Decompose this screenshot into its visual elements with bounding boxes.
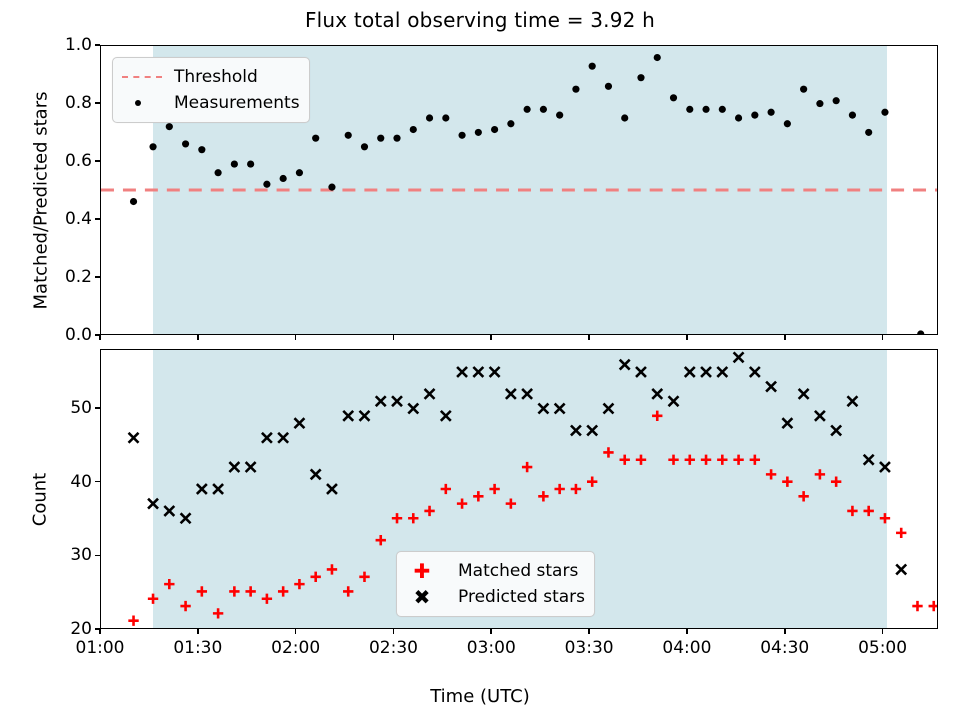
x-tick-mark (588, 335, 590, 340)
data-point (442, 114, 449, 121)
y-tick-mark (95, 555, 100, 557)
x-tick-mark (197, 629, 199, 634)
data-point (912, 601, 922, 611)
data-point (489, 484, 499, 494)
x-tick-label: 03:30 (565, 638, 614, 658)
measurement-dot-icon (120, 93, 164, 113)
x-tick-mark (490, 629, 492, 634)
data-point (278, 586, 288, 596)
data-point (554, 484, 564, 494)
x-tick-label: 01:30 (173, 638, 222, 658)
data-point (524, 106, 531, 113)
data-point (669, 396, 679, 406)
data-point (733, 455, 743, 465)
data-point (128, 616, 138, 626)
x-tick-mark (490, 335, 492, 340)
data-point (917, 330, 924, 334)
data-point (799, 389, 809, 399)
data-point (231, 161, 238, 168)
data-point (424, 506, 434, 516)
data-point (130, 198, 137, 205)
data-point (311, 572, 321, 582)
data-point (296, 169, 303, 176)
y-tick-label: 30 (38, 545, 92, 565)
data-point (620, 360, 630, 370)
legend-entry-matched-stars[interactable]: ✚ Matched stars (404, 558, 585, 584)
data-point (328, 184, 335, 191)
data-point (327, 564, 337, 574)
y-tick-mark (95, 481, 100, 483)
data-point (294, 579, 304, 589)
data-point (686, 106, 693, 113)
data-point (361, 143, 368, 150)
data-point (392, 513, 402, 523)
x-tick-mark (295, 335, 297, 340)
data-point (506, 389, 516, 399)
data-point (555, 404, 565, 414)
data-point (148, 499, 158, 509)
data-point (166, 123, 173, 130)
y-tick-label: 50 (38, 398, 92, 418)
data-point (685, 455, 695, 465)
x-tick-label: 05:00 (858, 638, 907, 658)
legend-label-measurements: Measurements (174, 95, 300, 112)
figure-title: Flux total observing time = 3.92 h (0, 8, 960, 32)
data-point (751, 112, 758, 119)
x-tick-mark (393, 629, 395, 634)
data-point (408, 404, 418, 414)
data-point (377, 135, 384, 142)
data-point (782, 418, 792, 428)
data-point (587, 426, 597, 436)
data-point (522, 389, 532, 399)
data-point (490, 367, 500, 377)
data-point (621, 114, 628, 121)
legend-label-threshold: Threshold (174, 69, 258, 86)
data-point (571, 484, 581, 494)
y-tick-label: 0.4 (38, 209, 92, 229)
y-tick-label: 0.0 (38, 325, 92, 345)
y-tick-label: 20 (38, 619, 92, 639)
figure-canvas: Flux total observing time = 3.92 h Thres… (0, 0, 960, 720)
legend-entry-predicted-stars[interactable]: ✖ Predicted stars (404, 584, 585, 610)
data-point (149, 143, 156, 150)
data-point (197, 484, 207, 494)
x-tick-mark (784, 335, 786, 340)
data-point (847, 396, 857, 406)
x-tick-label: 02:30 (369, 638, 418, 658)
data-point (881, 109, 888, 116)
data-point (782, 477, 792, 487)
data-point (620, 455, 630, 465)
data-point (473, 491, 483, 501)
x-tick-mark (686, 629, 688, 634)
data-point (359, 411, 369, 421)
data-point (929, 601, 937, 611)
data-point (589, 63, 596, 70)
data-point (815, 469, 825, 479)
y-tick-label: 0.2 (38, 267, 92, 287)
y-tick-mark (95, 407, 100, 409)
data-point (701, 367, 711, 377)
data-point (311, 469, 321, 479)
data-point (229, 586, 239, 596)
data-point (603, 447, 613, 457)
data-point (849, 112, 856, 119)
data-point (750, 367, 760, 377)
data-point (181, 513, 191, 523)
y-tick-label: 0.8 (38, 93, 92, 113)
data-point (847, 506, 857, 516)
data-point (278, 433, 288, 443)
x-tick-label: 01:00 (76, 638, 125, 658)
data-point (652, 411, 662, 421)
data-point (670, 94, 677, 101)
data-point (294, 418, 304, 428)
data-point (312, 135, 319, 142)
data-point (491, 126, 498, 133)
data-point (734, 352, 744, 362)
x-tick-mark (295, 629, 297, 634)
data-point (392, 396, 402, 406)
data-point (766, 382, 776, 392)
data-point (345, 132, 352, 139)
data-point (572, 86, 579, 93)
cross-marker-icon: ✖ (404, 587, 448, 607)
data-point (750, 455, 760, 465)
data-point (719, 106, 726, 113)
data-point (182, 140, 189, 147)
x-tick-label: 04:30 (760, 638, 809, 658)
data-point (458, 132, 465, 139)
bottom-panel-legend[interactable]: ✚ Matched stars ✖ Predicted stars (396, 551, 595, 617)
legend-label-predicted-stars: Predicted stars (458, 589, 585, 606)
data-point (343, 586, 353, 596)
data-point (473, 367, 483, 377)
data-point (229, 462, 239, 472)
legend-entry-threshold[interactable]: Threshold (120, 64, 300, 90)
data-point (798, 491, 808, 501)
data-point (636, 367, 646, 377)
data-point (865, 129, 872, 136)
data-point (198, 146, 205, 153)
data-point (766, 469, 776, 479)
data-point (896, 565, 906, 575)
data-point (376, 535, 386, 545)
x-tick-mark (393, 335, 395, 340)
data-point (129, 433, 139, 443)
data-point (896, 528, 906, 538)
data-point (359, 572, 369, 582)
data-point (654, 54, 661, 61)
legend-entry-measurements[interactable]: Measurements (120, 90, 300, 116)
data-point (441, 411, 451, 421)
y-tick-mark (95, 276, 100, 278)
data-point (457, 498, 467, 508)
data-point (457, 367, 467, 377)
data-point (717, 455, 727, 465)
x-tick-mark (99, 335, 101, 340)
data-point (408, 513, 418, 523)
legend-label-matched-stars: Matched stars (458, 563, 578, 580)
x-tick-label: 02:00 (271, 638, 320, 658)
data-point (376, 396, 386, 406)
x-tick-mark (99, 629, 101, 634)
x-tick-mark (686, 335, 688, 340)
data-point (213, 484, 223, 494)
x-tick-mark (882, 335, 884, 340)
data-point (393, 135, 400, 142)
data-point (735, 114, 742, 121)
x-tick-mark (588, 629, 590, 634)
data-point (245, 586, 255, 596)
data-point (768, 109, 775, 116)
data-point (538, 491, 548, 501)
plus-marker-icon: ✚ (404, 561, 448, 581)
y-tick-label: 0.6 (38, 151, 92, 171)
data-point (571, 426, 581, 436)
data-point (864, 506, 874, 516)
data-point (701, 455, 711, 465)
x-tick-label: 04:00 (662, 638, 711, 658)
data-point (880, 513, 890, 523)
data-point (441, 484, 451, 494)
data-point (215, 169, 222, 176)
data-point (587, 477, 597, 487)
y-tick-mark (95, 44, 100, 46)
data-point (343, 411, 353, 421)
series-matched-stars-tail (912, 601, 937, 611)
data-point (636, 455, 646, 465)
data-point (197, 586, 207, 596)
x-axis-label: Time (UTC) (0, 686, 960, 707)
data-point (263, 181, 270, 188)
data-point (605, 83, 612, 90)
data-point (262, 594, 272, 604)
y-tick-label: 1.0 (38, 35, 92, 55)
x-tick-mark (882, 629, 884, 634)
data-point (603, 404, 613, 414)
y-tick-mark (95, 102, 100, 104)
data-point (164, 506, 174, 516)
data-point (506, 498, 516, 508)
data-point (327, 484, 337, 494)
data-point (702, 106, 709, 113)
y-tick-label: 40 (38, 472, 92, 492)
data-point (800, 86, 807, 93)
data-point (426, 114, 433, 121)
data-point (831, 426, 841, 436)
x-tick-label: 03:00 (467, 638, 516, 658)
data-point (247, 161, 254, 168)
x-tick-mark (197, 335, 199, 340)
data-point (816, 100, 823, 107)
data-point (784, 120, 791, 127)
series-predicted-stars (129, 352, 907, 574)
data-point (213, 608, 223, 618)
data-point (164, 579, 174, 589)
data-point (864, 455, 874, 465)
y-tick-mark (95, 218, 100, 220)
data-point (880, 462, 890, 472)
data-point (538, 404, 548, 414)
data-point (833, 97, 840, 104)
threshold-line-icon (120, 67, 164, 87)
data-point (180, 601, 190, 611)
data-point (148, 594, 158, 604)
data-point (425, 389, 435, 399)
data-point (522, 462, 532, 472)
data-point (717, 367, 727, 377)
data-point (556, 112, 563, 119)
data-point (540, 106, 547, 113)
data-point (637, 74, 644, 81)
data-point (280, 175, 287, 182)
data-point (246, 462, 256, 472)
data-point (410, 126, 417, 133)
x-tick-mark (784, 629, 786, 634)
y-tick-mark (95, 160, 100, 162)
data-point (475, 129, 482, 136)
top-panel-legend[interactable]: Threshold Measurements (112, 57, 310, 123)
data-point (652, 389, 662, 399)
data-point (668, 455, 678, 465)
data-point (262, 433, 272, 443)
data-point (815, 411, 825, 421)
data-point (685, 367, 695, 377)
data-point (507, 120, 514, 127)
data-point (831, 477, 841, 487)
